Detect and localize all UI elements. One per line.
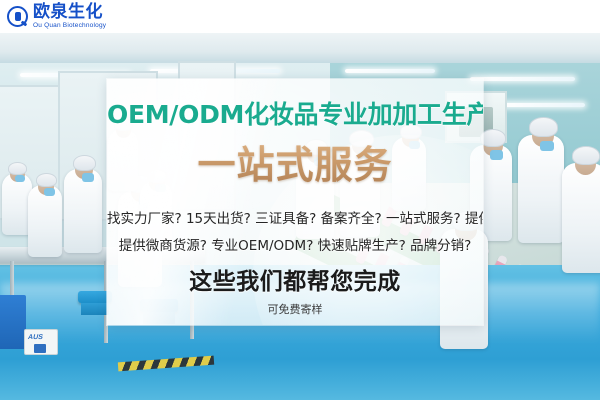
promo-card: OEM/ODM化妆品专业加加工生产 一站式服务 找实力厂家? 15天出货? 三证…: [107, 79, 483, 325]
feature-question-line: 找实力厂家? 15天出货? 三证具备? 备案齐全? 一站式服务? 提供设计方案?: [107, 207, 483, 227]
ceiling: [0, 33, 600, 67]
feature-question-line: 提供微商货源? 专业OEM/ODM? 快速贴牌生产? 品牌分销?: [107, 234, 483, 254]
site-header: 欧泉生化 Ou Quan Biotechnology: [0, 0, 600, 33]
blue-bin: [0, 295, 26, 349]
equipment-label-mark: [34, 344, 46, 353]
brand-logo-text: 欧泉生化 Ou Quan Biotechnology: [33, 4, 106, 30]
equipment-label-text: AUS: [27, 334, 43, 341]
brand-name-en: Ou Quan Biotechnology: [33, 23, 106, 30]
promo-headline: OEM/ODM化妆品专业加加工生产: [107, 95, 483, 131]
brand-name-cn: 欧泉生化: [33, 4, 106, 21]
promo-footnote: 可免费寄样: [107, 301, 483, 317]
ceiling-lamp: [470, 77, 575, 81]
ceiling-lamp: [345, 69, 435, 73]
equipment-label: AUS: [24, 329, 58, 355]
promo-closing-statement: 这些我们都帮您完成: [107, 262, 483, 296]
banner-screenshot: AUS: [0, 0, 600, 400]
circle-q-emblem-icon: [7, 6, 28, 27]
promo-subheadline: 一站式服务: [107, 134, 483, 189]
brand-logo[interactable]: 欧泉生化 Ou Quan Biotechnology: [0, 4, 106, 30]
ceiling-lamp: [500, 103, 585, 107]
